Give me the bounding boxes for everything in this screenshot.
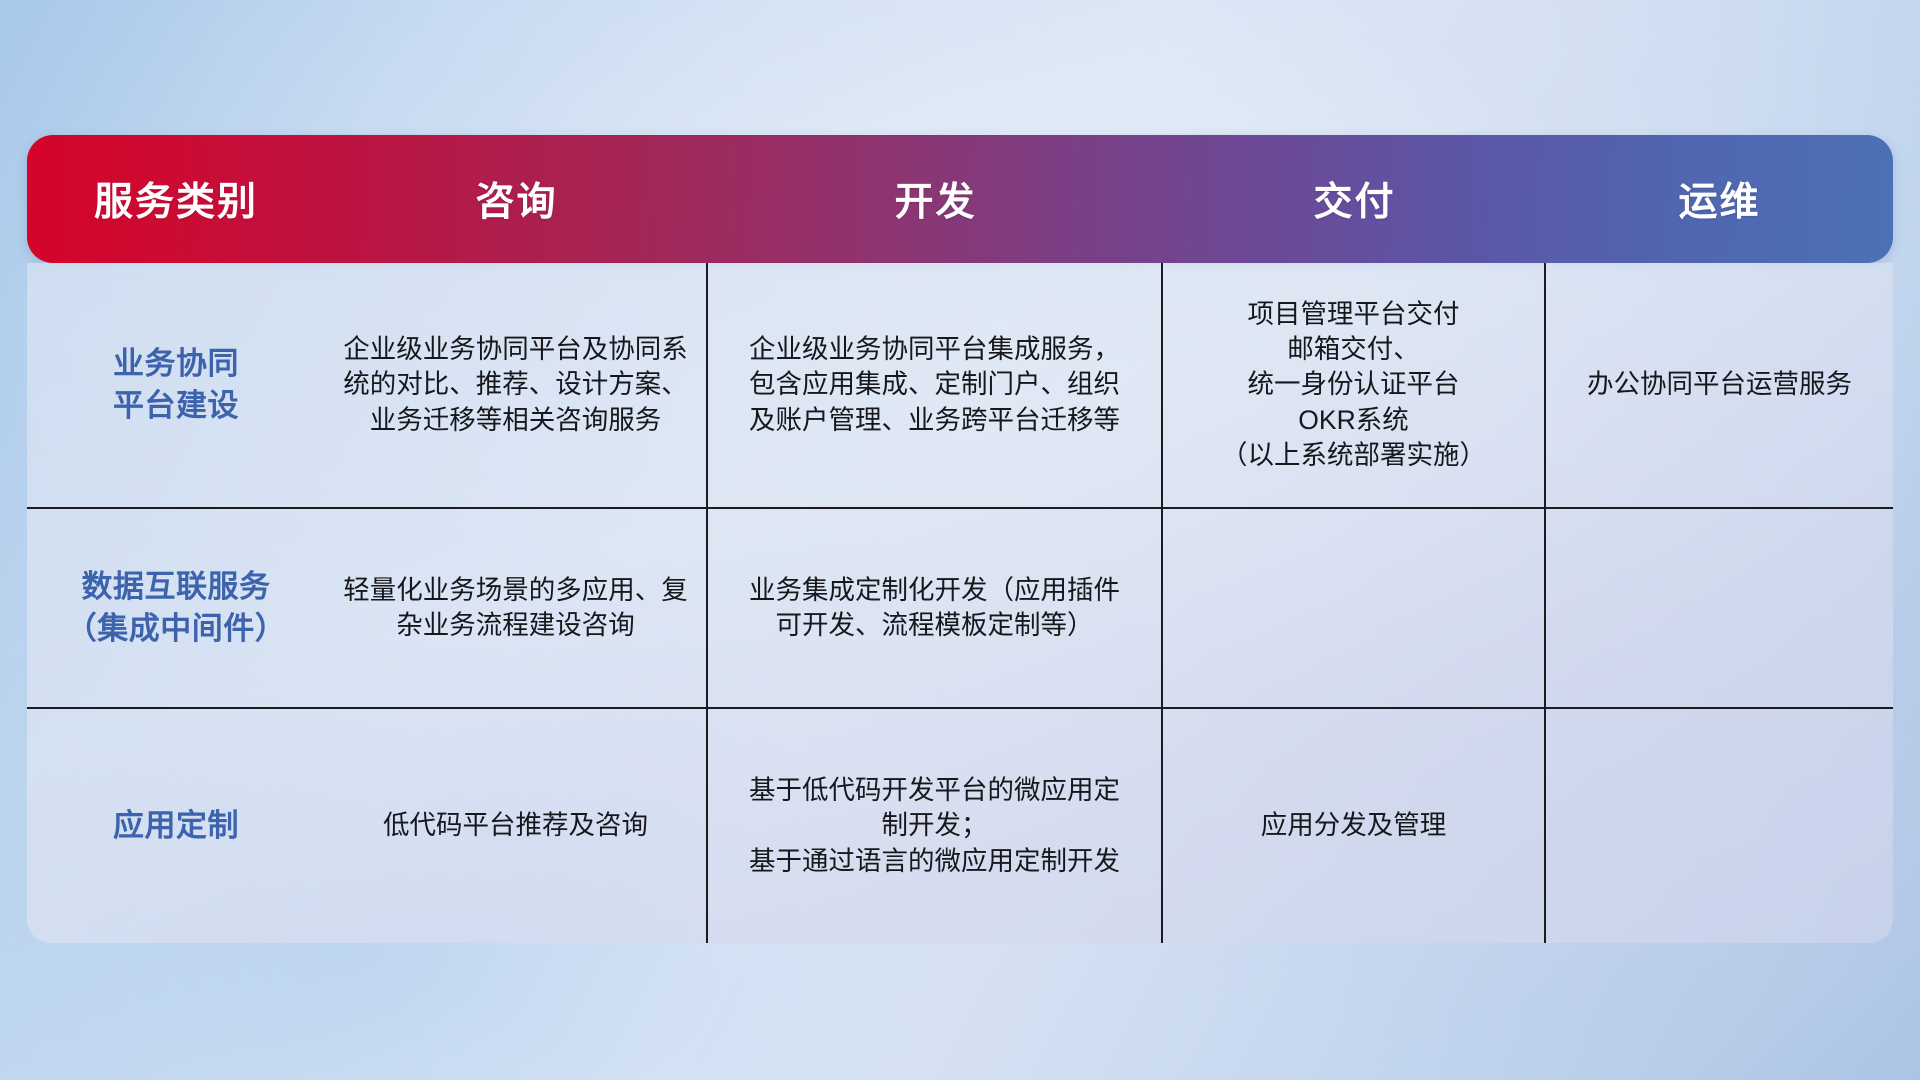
cell-operations-row2 (1546, 509, 1893, 707)
cell-operations-row1: 办公协同平台运营服务 (1546, 263, 1893, 507)
column-header-development: 开发 (708, 135, 1163, 263)
table-row: 应用定制 低代码平台推荐及咨询 基于低代码开发平台的微应用定 制开发； 基于通过… (27, 707, 1893, 943)
column-header-consulting: 咨询 (325, 135, 708, 263)
table-header-row: 服务类别 咨询 开发 交付 运维 (27, 135, 1893, 263)
table-body: 业务协同 平台建设 企业级业务协同平台及协同系 统的对比、推荐、设计方案、 业务… (27, 263, 1893, 943)
cell-development-row1: 企业级业务协同平台集成服务， 包含应用集成、定制门户、组织 及账户管理、业务跨平… (708, 263, 1163, 507)
cell-operations-row3 (1546, 709, 1893, 943)
cell-delivery-row1: 项目管理平台交付 邮箱交付、 统一身份认证平台 OKR系统 （以上系统部署实施） (1163, 263, 1546, 507)
table-row: 业务协同 平台建设 企业级业务协同平台及协同系 统的对比、推荐、设计方案、 业务… (27, 263, 1893, 507)
cell-consulting-row1: 企业级业务协同平台及协同系 统的对比、推荐、设计方案、 业务迁移等相关咨询服务 (325, 263, 708, 507)
cell-development-row2: 业务集成定制化开发（应用插件 可开发、流程模板定制等） (708, 509, 1163, 707)
row-label-business-collaboration: 业务协同 平台建设 (27, 263, 325, 507)
cell-development-row3: 基于低代码开发平台的微应用定 制开发； 基于通过语言的微应用定制开发 (708, 709, 1163, 943)
cell-delivery-row2 (1163, 509, 1546, 707)
row-label-data-interconnect: 数据互联服务 （集成中间件） (27, 509, 325, 707)
cell-consulting-row3: 低代码平台推荐及咨询 (325, 709, 708, 943)
table-row: 数据互联服务 （集成中间件） 轻量化业务场景的多应用、复 杂业务流程建设咨询 业… (27, 507, 1893, 707)
row-label-app-customization: 应用定制 (27, 709, 325, 943)
cell-delivery-row3: 应用分发及管理 (1163, 709, 1546, 943)
column-header-delivery: 交付 (1163, 135, 1546, 263)
column-header-operations: 运维 (1546, 135, 1893, 263)
service-matrix-table: 服务类别 咨询 开发 交付 运维 业务协同 平台建设 企业级业务协同平台及协同系… (27, 135, 1893, 943)
column-header-category: 服务类别 (27, 135, 325, 263)
cell-consulting-row2: 轻量化业务场景的多应用、复 杂业务流程建设咨询 (325, 509, 708, 707)
